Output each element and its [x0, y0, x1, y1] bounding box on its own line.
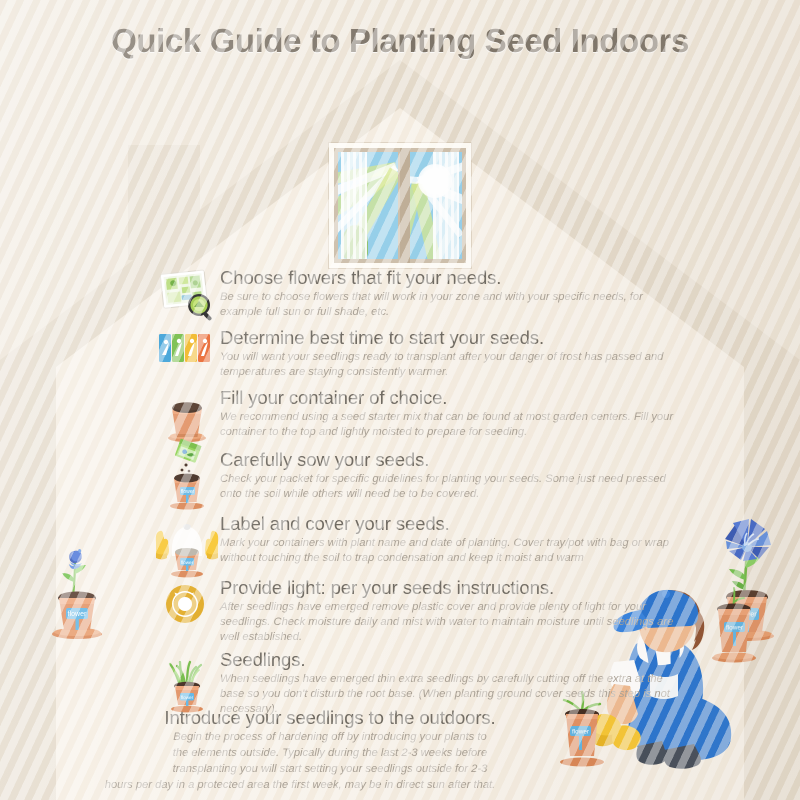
seedlings-sprouts-pot-icon: flower [158, 644, 216, 714]
soil-filled-pot-icon [158, 388, 216, 446]
step-heading: Determine best time to start your seeds. [220, 328, 678, 349]
footer-line: transplanting you will start setting you… [90, 762, 570, 778]
step-description: You will want your seedlings ready to tr… [220, 350, 678, 380]
window-mullion [400, 148, 410, 263]
glove-right [205, 531, 218, 560]
footer-line: the elements outside. Typically during t… [90, 746, 570, 762]
blue-lily-head [725, 519, 771, 561]
svg-text:flower: flower [181, 560, 194, 565]
footer-block: Introduce your seedlings to the outdoors… [90, 708, 570, 794]
svg-text:flower: flower [572, 729, 590, 736]
step-heading: Seedlings. [220, 650, 678, 671]
house-chimney [128, 145, 200, 260]
sun-light-icon [158, 580, 216, 638]
step-heading: Carefully sow your seeds. [220, 450, 678, 471]
step-description: Be sure to choose flowers that will work… [220, 290, 678, 320]
blue-flower-pot-illustration: flower [40, 522, 120, 642]
step-heading: Provide light: per your seeds instructio… [220, 578, 678, 599]
four-seasons-calendar-icon [158, 330, 216, 388]
step-description: After seedlings have emerged remove plas… [220, 600, 678, 645]
step-heading: Choose flowers that fit your needs. [220, 268, 678, 289]
step-item[interactable]: Determine best time to start your seeds.… [158, 328, 678, 388]
glove-left [156, 531, 169, 560]
footer-heading: Introduce your seedlings to the outdoors… [90, 708, 570, 728]
svg-text:flower: flower [181, 489, 195, 495]
window-curtain-right [433, 152, 459, 259]
window-pane-right [402, 152, 462, 259]
step-heading: Label and cover your seeds. [220, 514, 678, 535]
step-description: Check your packet for specific guideline… [220, 472, 678, 502]
step-item[interactable]: Choose flowers that fit your needs. Be s… [158, 268, 678, 328]
step-description: Mark your containers with plant name and… [220, 536, 678, 566]
seed-packet-sowing-icon: flower [158, 440, 216, 512]
covered-pot-gloves-icon: flower [154, 508, 220, 578]
window-curtain-left [341, 152, 367, 259]
pot-label-text: flower [68, 611, 87, 618]
page-title: Quick Guide to Planting Seed Indoors [0, 22, 800, 60]
step-item[interactable]: Fill your container of choice. We recomm… [158, 388, 678, 450]
infographic-poster: Quick Guide to Planting Seed Indoors [0, 0, 800, 800]
footer-line: hours per day in a protected area the fi… [30, 778, 570, 794]
footer-description: Begin the process of hardening off by in… [90, 730, 570, 794]
step-item[interactable]: flower Carefully sow your seeds. Check y… [158, 450, 678, 514]
step-item[interactable]: flower Label and cover your seeds. Mark … [158, 514, 678, 578]
garden-plan-magnifier-icon [158, 268, 216, 326]
step-description: We recommend using a seed starter mix th… [220, 410, 678, 440]
window-illustration [329, 143, 471, 268]
step-item[interactable]: Provide light: per your seeds instructio… [158, 578, 678, 650]
footer-line: Begin the process of hardening off by in… [90, 730, 570, 746]
steps-list: Choose flowers that fit your needs. Be s… [158, 268, 678, 720]
window-pane-left [338, 152, 398, 259]
step-heading: Fill your container of choice. [220, 388, 678, 409]
svg-text:flower: flower [181, 695, 194, 700]
